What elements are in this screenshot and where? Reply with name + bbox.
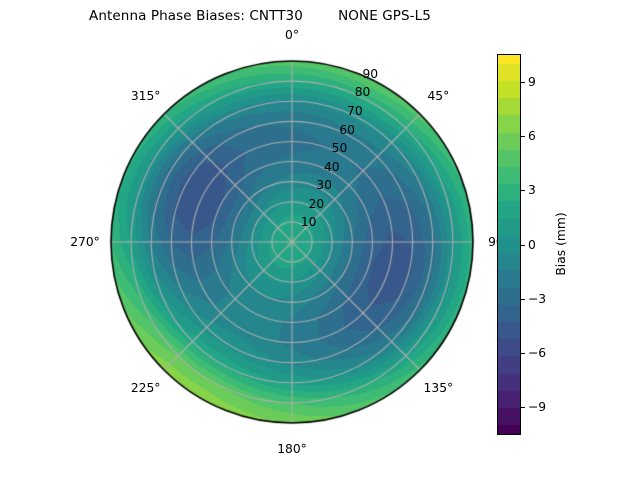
colorbar-tick-label-6: −9 [528,400,546,414]
azimuth-tick-45: 45° [427,89,449,103]
zenith-tick-20: 20 [309,197,325,211]
colorbar-tick-label-0: 9 [528,75,536,89]
azimuth-tick-180: 180° [277,442,307,456]
zenith-tick-80: 80 [355,85,371,99]
zenith-tick-10: 10 [301,215,317,229]
azimuth-tick-225: 225° [131,381,161,395]
colorbar-tickmark-4 [521,299,525,300]
polar-plot-area: 0°45°90°135°180°225°270°315° 10203040506… [0,0,520,480]
colorbar-tick-label-2: 3 [528,183,536,197]
colorbar-tick-label-1: 6 [528,129,536,143]
colorbar: 9630−3−6−9 Bias (mm) [497,54,617,434]
azimuth-tick-315: 315° [131,89,161,103]
zenith-tick-50: 50 [332,141,348,155]
zenith-tick-70: 70 [347,104,363,118]
colorbar-tick-label-3: 0 [528,238,536,252]
zenith-tick-40: 40 [324,160,340,174]
azimuth-tick-270: 270° [70,235,100,249]
colorbar-tickmark-0 [521,82,525,83]
colorbar-tickmark-3 [521,245,525,246]
zenith-tick-90: 90 [362,67,378,81]
azimuth-tick-0: 0° [285,28,299,42]
colorbar-tickmark-2 [521,190,525,191]
zenith-tick-60: 60 [339,123,355,137]
colorbar-tick-label-4: −3 [528,292,546,306]
zenith-tick-30: 30 [316,178,332,192]
figure-canvas: Antenna Phase Biases: CNTT30 NONE GPS-L5… [0,0,640,480]
colorbar-axis-label: Bias (mm) [554,212,568,275]
colorbar-tickmark-6 [521,407,525,408]
azimuth-tick-135: 135° [424,381,454,395]
colorbar-gradient [497,54,521,435]
colorbar-tick-label-5: −6 [528,346,546,360]
colorbar-tickmark-5 [521,353,525,354]
colorbar-tickmark-1 [521,136,525,137]
